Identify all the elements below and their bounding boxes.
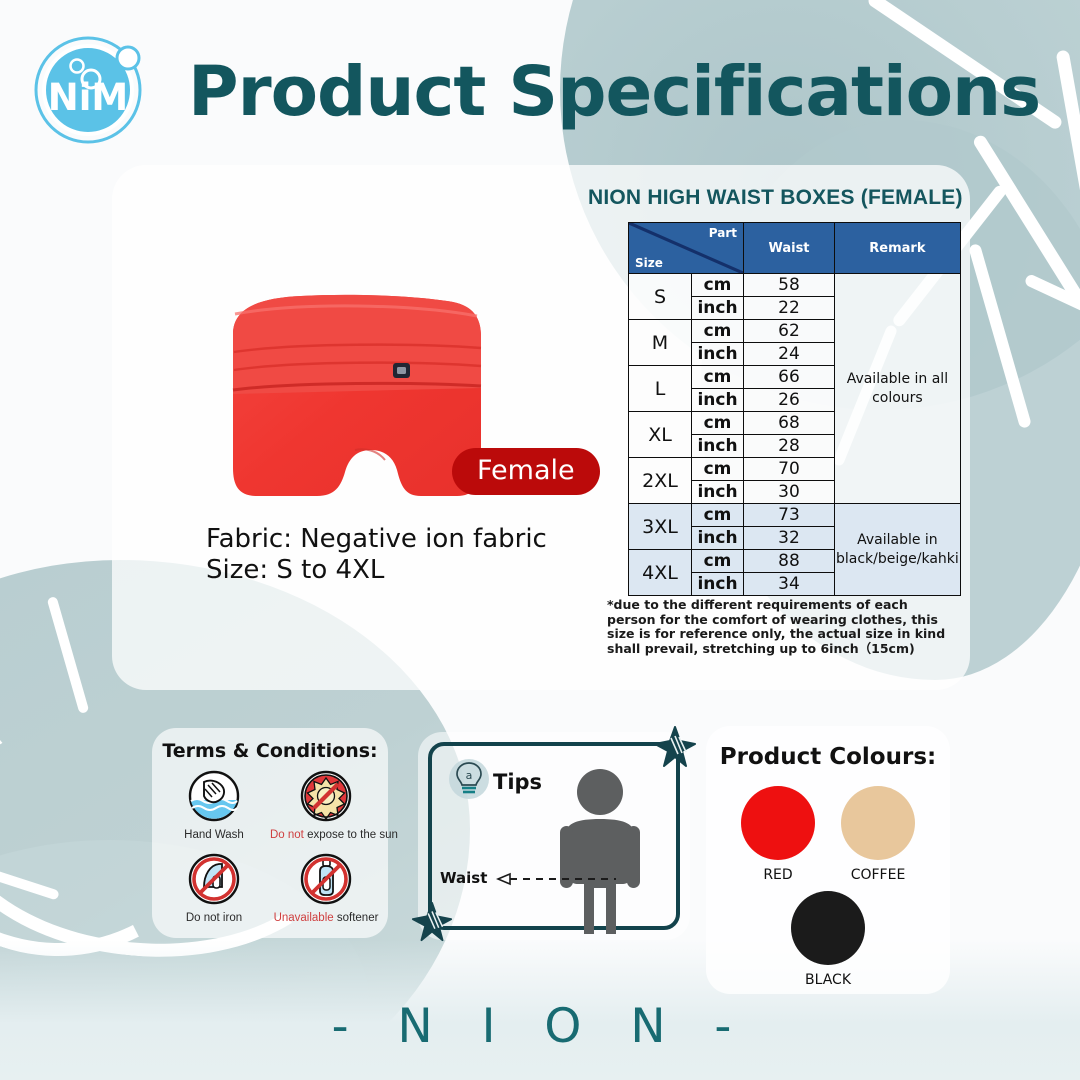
care-item-no-softener: Unavailable softener <box>270 853 382 924</box>
cell-unit-inch: inch <box>692 297 744 320</box>
size-table-body: S cm 58 Available in all colours inch 22… <box>629 274 961 596</box>
cell-waist-inch: 24 <box>744 343 835 366</box>
cell-size: 3XL <box>629 504 692 550</box>
table-row: 3XL cm 73 Available in black/beige/kahki <box>629 504 961 527</box>
cell-waist-inch: 30 <box>744 481 835 504</box>
care-icon-grid: Hand Wash Do not expose to the sun <box>152 770 388 924</box>
cell-waist-cm: 58 <box>744 274 835 297</box>
cell-unit-cm: cm <box>692 366 744 389</box>
cell-unit-inch: inch <box>692 481 744 504</box>
care-suffix-no-sun: expose to the sun <box>304 829 398 841</box>
swatch-name-black: BLACK <box>787 972 869 988</box>
lightbulb-icon: a <box>446 756 492 802</box>
cell-unit-cm: cm <box>692 458 744 481</box>
swatch-dot-coffee <box>841 786 915 860</box>
product-description: Fabric: Negative ion fabric Size: S to 4… <box>206 524 547 586</box>
swatch-dot-black <box>791 891 865 965</box>
tips-panel: a Tips Waist <box>418 732 690 940</box>
person-silhouette-icon <box>540 768 660 934</box>
cell-waist-inch: 34 <box>744 573 835 596</box>
corner-part-label: Part <box>709 226 737 240</box>
cell-waist-cm: 62 <box>744 320 835 343</box>
cell-waist-cm: 73 <box>744 504 835 527</box>
cell-unit-cm: cm <box>692 412 744 435</box>
swatch-coffee: COFFEE <box>837 786 919 883</box>
cell-waist-cm: 88 <box>744 550 835 573</box>
care-row-2: Do not iron Unavailable softener <box>152 853 388 924</box>
size-table-header-row: Part Size Waist Remark <box>629 223 961 274</box>
swatch-name-coffee: COFFEE <box>837 867 919 883</box>
care-prefix-no-softener: Unavailable <box>274 912 334 924</box>
page-title: Product Specifications <box>188 52 1040 132</box>
svg-text:a: a <box>466 769 473 782</box>
cell-unit-inch: inch <box>692 527 744 550</box>
corner-size-label: Size <box>635 256 663 270</box>
care-item-no-sun: Do not expose to the sun <box>270 770 382 841</box>
swatch-black: BLACK <box>787 891 869 988</box>
nim-logo: NiM <box>30 30 150 150</box>
cell-waist-cm: 68 <box>744 412 835 435</box>
no-sun-icon <box>300 770 352 822</box>
hand-wash-icon <box>188 770 240 822</box>
table-row: S cm 58 Available in all colours <box>629 274 961 297</box>
cell-unit-cm: cm <box>692 550 744 573</box>
cell-unit-inch: inch <box>692 343 744 366</box>
no-iron-icon <box>188 853 240 905</box>
care-label-no-sun: Do not expose to the sun <box>270 829 382 841</box>
cell-size: L <box>629 366 692 412</box>
infographic-root: NiM Product Specifications <box>0 0 1080 1080</box>
cell-unit-inch: inch <box>692 435 744 458</box>
svg-text:NiM: NiM <box>48 76 128 119</box>
female-badge: Female <box>452 448 600 495</box>
care-item-hand-wash: Hand Wash <box>158 770 270 841</box>
terms-panel: Terms & Conditions: Hand Wash <box>152 728 388 938</box>
cell-unit-cm: cm <box>692 504 744 527</box>
size-range-text: Size: S to 4XL <box>206 555 547 586</box>
cell-waist-cm: 70 <box>744 458 835 481</box>
care-label-no-iron: Do not iron <box>158 912 270 924</box>
care-label-no-softener: Unavailable softener <box>270 912 382 924</box>
care-row-1: Hand Wash Do not expose to the sun <box>152 770 388 841</box>
cell-size: 4XL <box>629 550 692 596</box>
swatch-red: RED <box>737 786 819 883</box>
swatch-row-2: BLACK <box>706 891 950 988</box>
waist-arrow-icon <box>496 872 620 886</box>
cell-waist-inch: 32 <box>744 527 835 550</box>
column-header-waist: Waist <box>744 223 835 274</box>
swatch-name-red: RED <box>737 867 819 883</box>
size-table-footnote: *due to the different requirements of ea… <box>607 598 952 656</box>
cell-waist-inch: 28 <box>744 435 835 458</box>
no-softener-icon <box>300 853 352 905</box>
star-decoration-icon-bottom-left <box>410 900 454 944</box>
cell-size: XL <box>629 412 692 458</box>
care-label-hand-wash: Hand Wash <box>158 829 270 841</box>
cell-unit-inch: inch <box>692 573 744 596</box>
swatch-row-1: RED COFFEE <box>706 786 950 883</box>
care-prefix-no-sun: Do not <box>270 829 304 841</box>
fabric-text: Fabric: Negative ion fabric <box>206 524 547 555</box>
column-header-remark: Remark <box>835 223 961 274</box>
care-suffix-no-softener: softener <box>334 912 379 924</box>
cell-remark-bottom: Available in black/beige/kahki <box>835 504 961 596</box>
tips-title: Tips <box>493 770 542 794</box>
cell-waist-inch: 22 <box>744 297 835 320</box>
terms-title: Terms & Conditions: <box>152 740 388 762</box>
cell-unit-cm: cm <box>692 320 744 343</box>
cell-size: 2XL <box>629 458 692 504</box>
cell-unit-inch: inch <box>692 389 744 412</box>
swatch-dot-red <box>741 786 815 860</box>
colours-panel: Product Colours: RED COFFEE BLACK <box>706 726 950 994</box>
cell-size: S <box>629 274 692 320</box>
size-table: Part Size Waist Remark S cm 58 Available… <box>628 222 961 596</box>
colours-title: Product Colours: <box>706 744 950 770</box>
cell-waist-inch: 26 <box>744 389 835 412</box>
size-table-corner-cell: Part Size <box>629 223 744 274</box>
page-header: NiM Product Specifications <box>0 0 1080 175</box>
care-item-no-iron: Do not iron <box>158 853 270 924</box>
size-table-title: NION HIGH WAIST BOXES (FEMALE) <box>588 186 963 210</box>
cell-size: M <box>629 320 692 366</box>
star-decoration-icon-top-right <box>652 724 698 770</box>
footer-brand: - N I O N - <box>0 999 1080 1054</box>
cell-remark-top: Available in all colours <box>835 274 961 504</box>
cell-unit-cm: cm <box>692 274 744 297</box>
cell-waist-cm: 66 <box>744 366 835 389</box>
waist-label: Waist <box>440 869 487 887</box>
